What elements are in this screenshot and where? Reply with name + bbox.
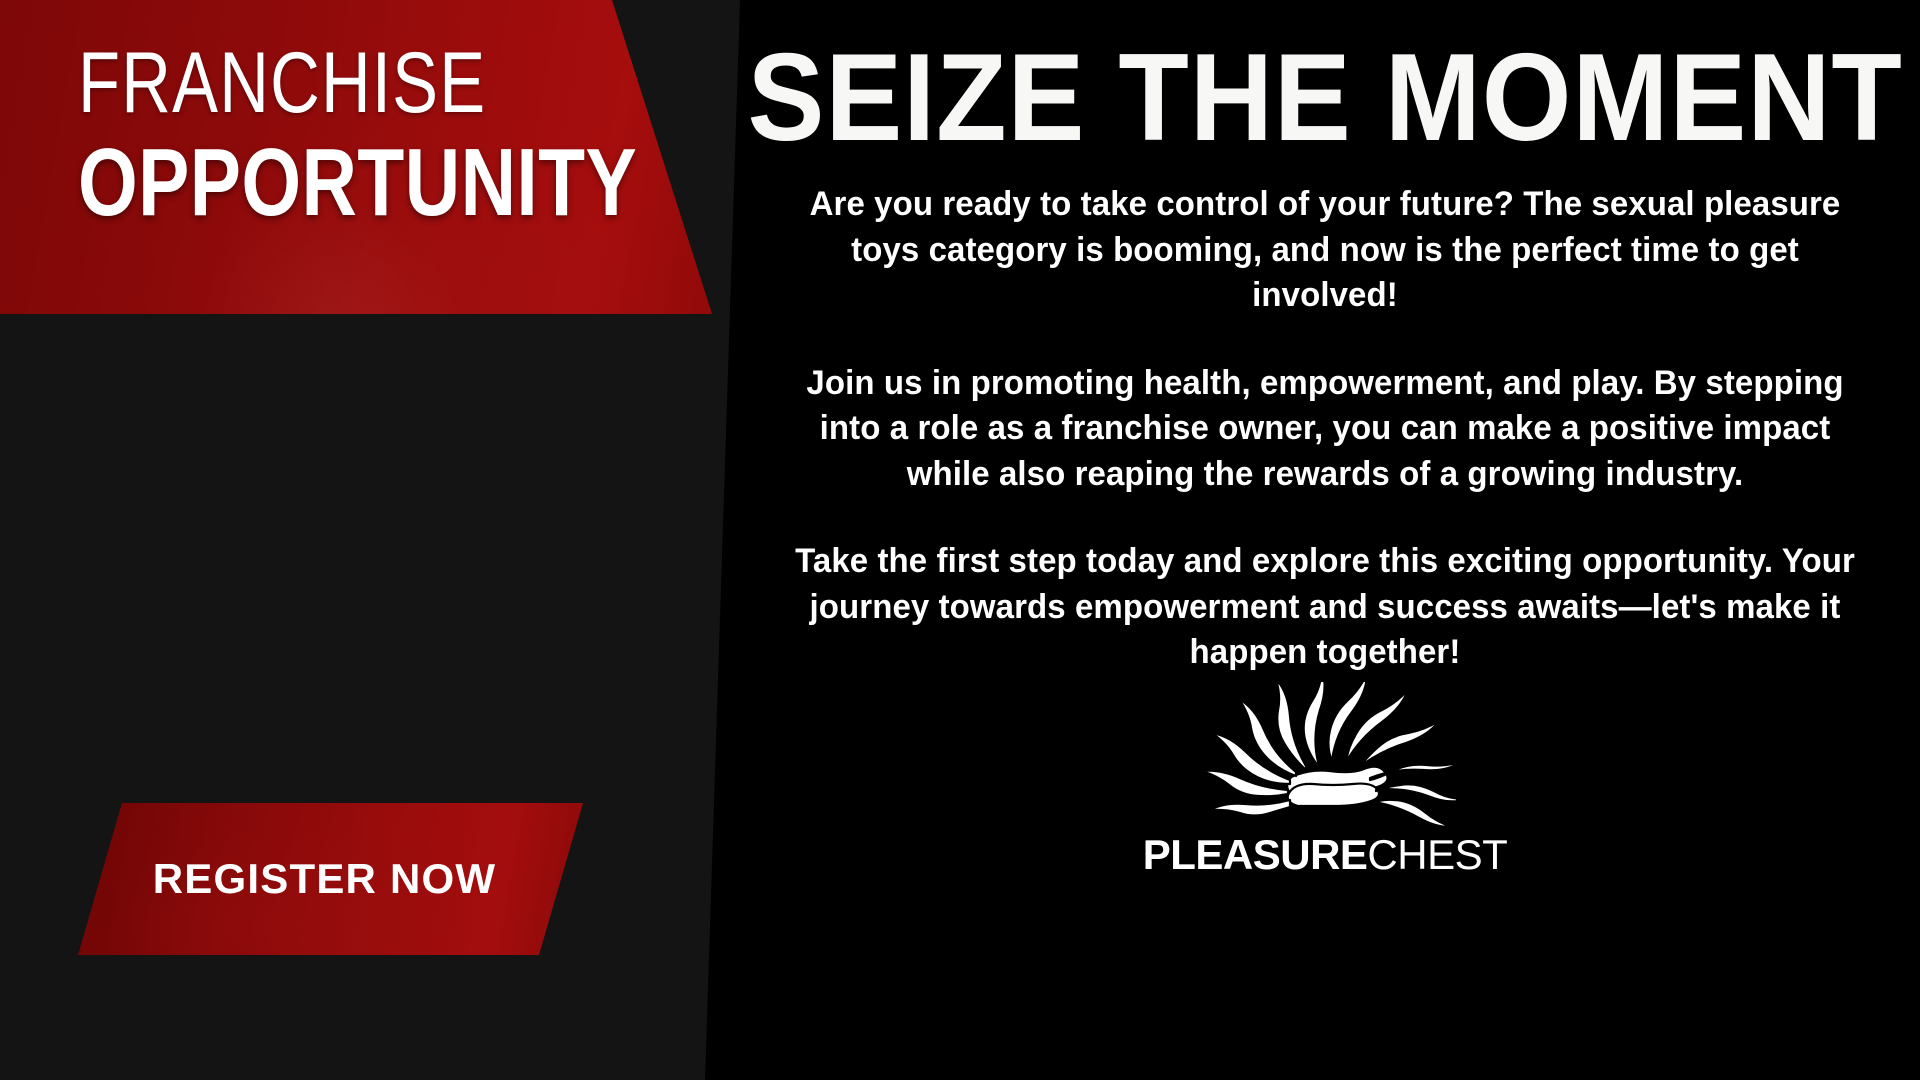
promo-banner: FRANCHISE OPPORTUNITY REGISTER NOW SEIZE… [0, 0, 1920, 1080]
pleasure-chest-sunburst-icon [1194, 682, 1456, 832]
right-content-column: SEIZE THE MOMENT Are you ready to take c… [730, 0, 1920, 1080]
page-title: SEIZE THE MOMENT [747, 36, 1902, 160]
franchise-eyebrow: FRANCHISE [78, 44, 526, 123]
register-now-button[interactable]: REGISTER NOW [78, 803, 583, 955]
brand-logo: PLEASURECHEST [1143, 682, 1508, 876]
opportunity-title: OPPORTUNITY [78, 135, 526, 231]
body-copy: Are you ready to take control of your fu… [770, 182, 1880, 676]
register-now-label: REGISTER NOW [153, 855, 496, 903]
logo-wordmark: PLEASURECHEST [1143, 834, 1508, 876]
paragraph-2: Join us in promoting health, empowerment… [787, 361, 1864, 498]
paragraph-1: Are you ready to take control of your fu… [787, 182, 1864, 319]
logo-word-chest: CHEST [1367, 831, 1507, 878]
left-headline-group: FRANCHISE OPPORTUNITY [78, 44, 638, 231]
paragraph-3: Take the first step today and explore th… [787, 539, 1864, 676]
logo-word-pleasure: PLEASURE [1143, 831, 1368, 878]
